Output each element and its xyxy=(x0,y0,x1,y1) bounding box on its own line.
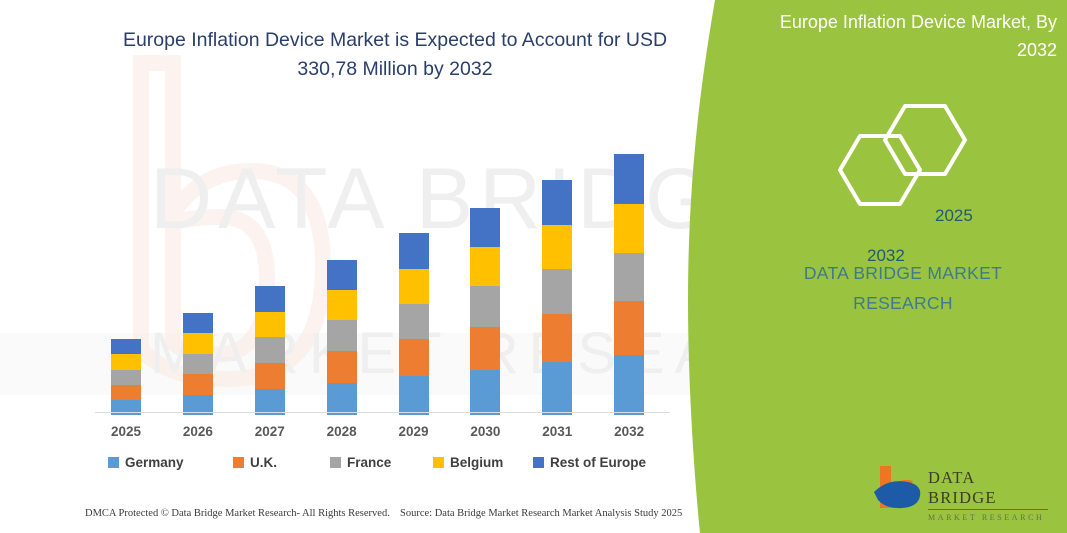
bar-segment-u-k xyxy=(542,314,572,362)
bar-segment-belgium xyxy=(255,312,285,337)
bar-segment-rest-of-europe xyxy=(470,208,500,247)
panel-title: Europe Inflation Device Market, By 2032 xyxy=(750,8,1057,64)
logo-main-text: DATA BRIDGE xyxy=(928,468,1048,510)
green-panel-content: Europe Inflation Device Market, By 2032 … xyxy=(740,0,1067,533)
page-title: Europe Inflation Device Market is Expect… xyxy=(110,26,680,84)
bar-segment-france xyxy=(470,286,500,326)
bar-segment-belgium xyxy=(542,225,572,269)
bar-segment-germany xyxy=(614,355,644,415)
bar-segment-u-k xyxy=(614,301,644,355)
x-axis-label-2026: 2026 xyxy=(167,424,229,439)
footer-copyright: DMCA Protected © Data Bridge Market Rese… xyxy=(85,508,390,524)
legend-label-u-k: U.K. xyxy=(250,455,277,470)
legend-label-belgium: Belgium xyxy=(450,455,503,470)
legend-item-u-k[interactable]: U.K. xyxy=(233,455,277,470)
infographic-canvas: DATA BRIDGE MARKET RESEARCH Europe Infla… xyxy=(0,0,1067,533)
bar-segment-u-k xyxy=(111,385,141,400)
bar-segment-u-k xyxy=(470,327,500,370)
hexagon-outline-icon xyxy=(835,88,1015,210)
legend-item-belgium[interactable]: Belgium xyxy=(433,455,503,470)
bar-segment-france xyxy=(111,370,141,385)
hexagon-2025-label: 2025 xyxy=(935,206,973,226)
hexagon-2032-shape xyxy=(840,136,920,204)
brand-name-text: DATA BRIDGE MARKET RESEARCH xyxy=(758,258,1048,318)
bar-segment-rest-of-europe xyxy=(542,180,572,225)
legend-swatch-germany xyxy=(108,457,119,468)
bar-segment-germany xyxy=(327,383,357,415)
bar-segment-u-k xyxy=(255,363,285,389)
bar-group-2027 xyxy=(239,143,301,415)
stacked-bar xyxy=(327,260,357,415)
logo-sub-text: MARKET RESEARCH xyxy=(928,513,1048,522)
bar-segment-u-k xyxy=(183,374,213,395)
bar-segment-rest-of-europe xyxy=(255,286,285,312)
x-axis-label-2027: 2027 xyxy=(239,424,301,439)
legend-swatch-u-k xyxy=(233,457,244,468)
bar-segment-rest-of-europe xyxy=(327,260,357,290)
bar-group-2032 xyxy=(598,143,660,415)
brand-name-line-2: RESEARCH xyxy=(758,288,1048,318)
legend-swatch-france xyxy=(330,457,341,468)
bar-group-2031 xyxy=(526,143,588,415)
bar-segment-rest-of-europe xyxy=(399,233,429,269)
bar-segment-france xyxy=(614,253,644,302)
x-axis-label-2032: 2032 xyxy=(598,424,660,439)
legend-label-france: France xyxy=(347,455,391,470)
stacked-bar xyxy=(470,208,500,415)
stacked-bar xyxy=(255,286,285,415)
chart-legend: GermanyU.K.FranceBelgiumRest of Europe xyxy=(108,455,668,475)
bar-segment-france xyxy=(542,269,572,314)
bar-segment-u-k xyxy=(327,351,357,383)
stacked-bar xyxy=(614,154,644,415)
bar-group-2028 xyxy=(311,143,373,415)
hexagon-badges: 2025 2032 xyxy=(835,88,1015,210)
hexagon-2025-shape xyxy=(885,106,965,174)
bar-segment-france xyxy=(255,337,285,363)
legend-label-germany: Germany xyxy=(125,455,184,470)
bar-segment-rest-of-europe xyxy=(614,154,644,204)
data-bridge-logo: DATA BRIDGE MARKET RESEARCH xyxy=(870,462,1045,514)
bar-segment-germany xyxy=(542,362,572,415)
bar-segment-france xyxy=(183,354,213,375)
legend-swatch-rest-of-europe xyxy=(533,457,544,468)
x-axis-labels: 20252026202720282029203020312032 xyxy=(95,424,670,446)
bar-segment-belgium xyxy=(614,204,644,253)
x-axis-label-2030: 2030 xyxy=(454,424,516,439)
legend-item-rest-of-europe[interactable]: Rest of Europe xyxy=(533,455,646,470)
legend-label-rest-of-europe: Rest of Europe xyxy=(550,455,646,470)
brand-name-line-1: DATA BRIDGE MARKET xyxy=(758,258,1048,288)
bar-group-2029 xyxy=(383,143,445,415)
bar-segment-germany xyxy=(470,370,500,415)
legend-swatch-belgium xyxy=(433,457,444,468)
stacked-bar xyxy=(183,313,213,416)
x-axis-label-2028: 2028 xyxy=(311,424,373,439)
bar-chart-plot xyxy=(95,140,670,415)
bar-segment-rest-of-europe xyxy=(111,339,141,355)
x-axis-label-2029: 2029 xyxy=(383,424,445,439)
bar-segment-france xyxy=(327,320,357,351)
stacked-bar xyxy=(111,339,141,415)
bar-group-2026 xyxy=(167,143,229,415)
bar-segment-belgium xyxy=(111,354,141,370)
bar-segment-france xyxy=(399,304,429,340)
bar-segment-belgium xyxy=(470,247,500,286)
bar-segment-rest-of-europe xyxy=(183,313,213,334)
x-axis-label-2025: 2025 xyxy=(95,424,157,439)
bar-segment-belgium xyxy=(327,290,357,320)
stacked-bar xyxy=(399,233,429,415)
legend-item-france[interactable]: France xyxy=(330,455,391,470)
logo-wordmark: DATA BRIDGE MARKET RESEARCH xyxy=(928,468,1048,522)
bar-segment-germany xyxy=(399,376,429,415)
legend-item-germany[interactable]: Germany xyxy=(108,455,184,470)
stacked-bar xyxy=(542,180,572,415)
footer-source: Source: Data Bridge Market Research Mark… xyxy=(400,508,682,524)
bar-group-2030 xyxy=(454,143,516,415)
bar-group-2025 xyxy=(95,143,157,415)
bar-segment-belgium xyxy=(183,333,213,354)
x-axis-line xyxy=(95,412,670,413)
x-axis-label-2031: 2031 xyxy=(526,424,588,439)
bar-segment-u-k xyxy=(399,339,429,376)
bar-segment-belgium xyxy=(399,269,429,304)
data-bridge-mark-icon xyxy=(870,462,922,512)
